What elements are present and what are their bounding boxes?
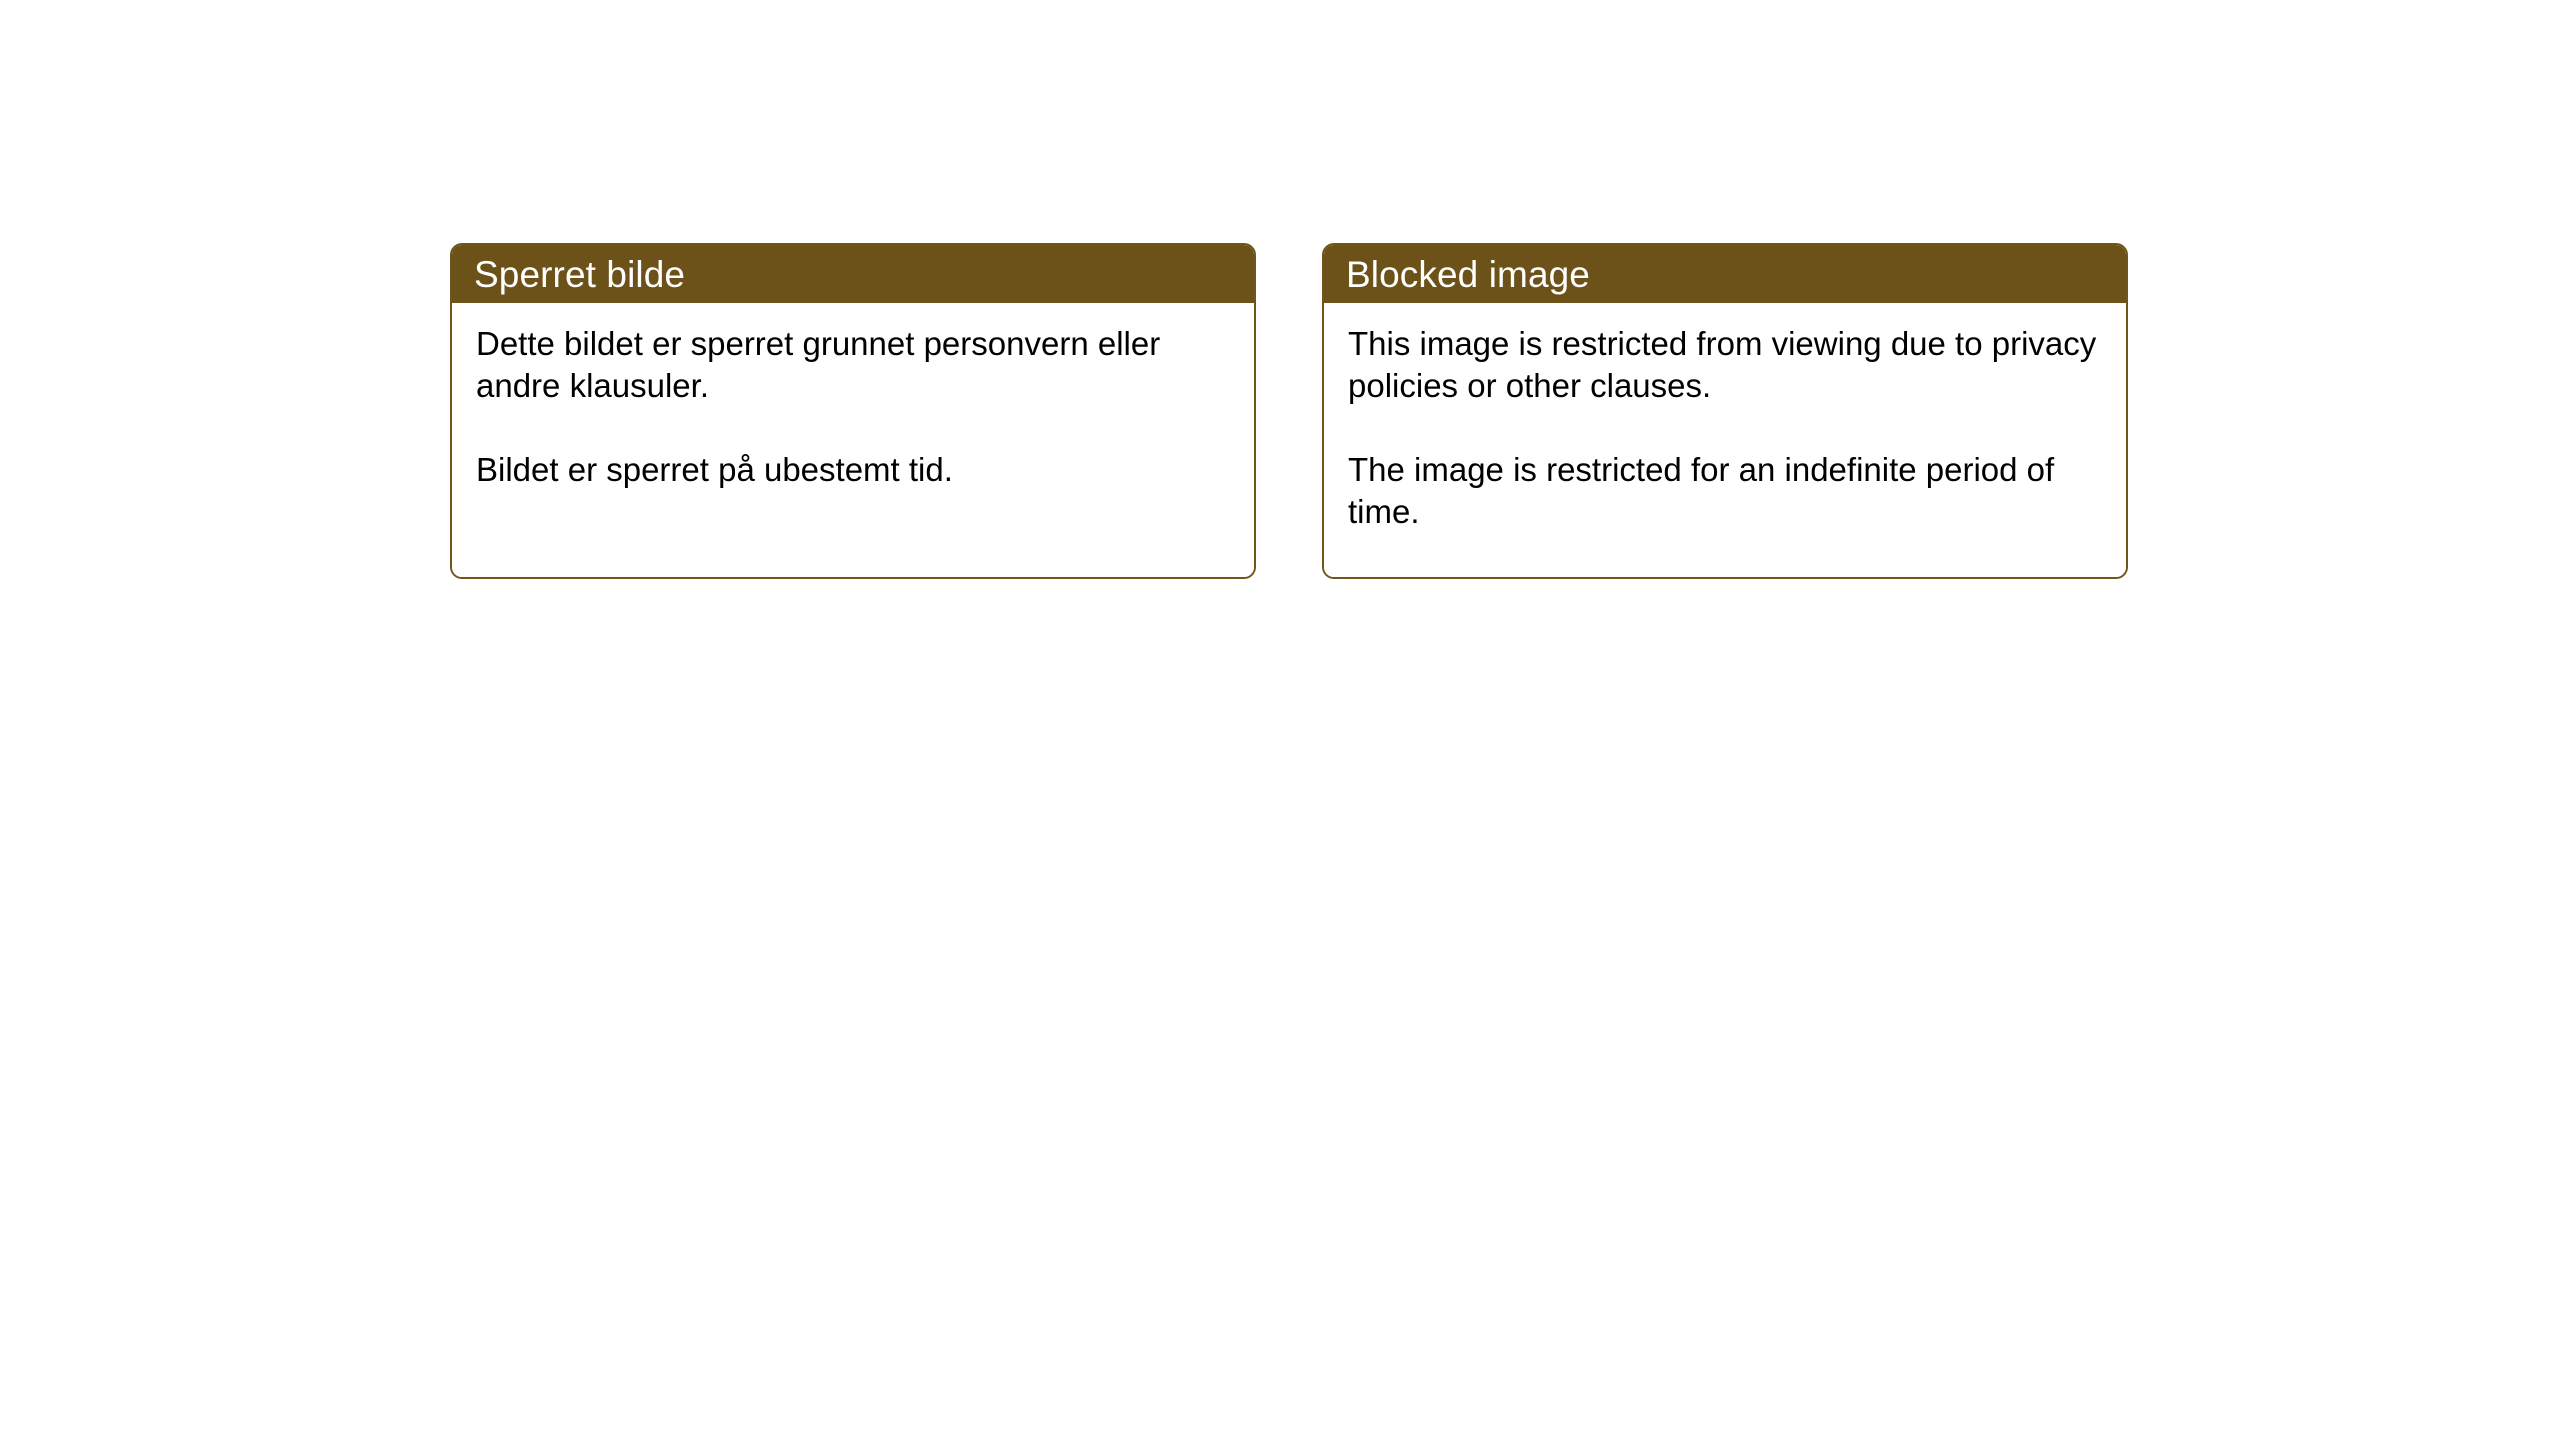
blocked-image-notice-card-no: Sperret bilde Dette bildet er sperret gr… bbox=[450, 243, 1256, 579]
notice-card-group: Sperret bilde Dette bildet er sperret gr… bbox=[450, 243, 2128, 579]
blocked-image-notice-card-en: Blocked image This image is restricted f… bbox=[1322, 243, 2128, 579]
card-header-en: Blocked image bbox=[1324, 245, 2126, 303]
card-title-en: Blocked image bbox=[1346, 256, 1590, 293]
card-body-no: Dette bildet er sperret grunnet personve… bbox=[452, 303, 1254, 577]
card-paragraph-no-1: Dette bildet er sperret grunnet personve… bbox=[476, 323, 1228, 407]
card-paragraph-no-2: Bildet er sperret på ubestemt tid. bbox=[476, 449, 1228, 491]
card-paragraph-en-1: This image is restricted from viewing du… bbox=[1348, 323, 2100, 407]
card-body-en: This image is restricted from viewing du… bbox=[1324, 303, 2126, 577]
card-paragraph-en-2: The image is restricted for an indefinit… bbox=[1348, 449, 2100, 533]
card-header-no: Sperret bilde bbox=[452, 245, 1254, 303]
page-root: Sperret bilde Dette bildet er sperret gr… bbox=[0, 0, 2560, 1440]
card-title-no: Sperret bilde bbox=[474, 256, 685, 293]
